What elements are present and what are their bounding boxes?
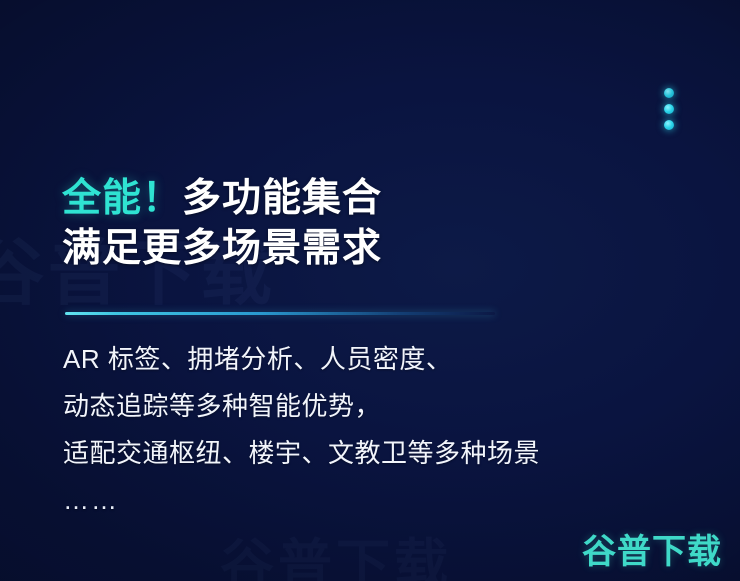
menu-dot-icon-2 [664, 104, 674, 114]
body-paragraph: AR 标签、拥堵分析、人员密度、 动态追踪等多种智能优势， 适配交通枢纽、楼宇、… [63, 336, 713, 524]
headline-accent-text: 全能！ [62, 177, 182, 220]
headline-block: 全能！多功能集合 满足更多场景需求 [62, 174, 702, 274]
body-line-2: 动态追踪等多种智能优势， [63, 383, 713, 430]
headline-line-1-rest: 多功能集合 [182, 177, 382, 220]
body-line-ellipsis: …… [63, 477, 713, 524]
site-watermark: 谷普下载 [582, 524, 722, 573]
menu-dot-icon-1 [664, 88, 674, 98]
ghost-watermark-text-secondary: 谷普下载 [220, 520, 452, 581]
divider-line [65, 312, 495, 315]
promo-slide: 谷普下载 谷普下载 全能！多功能集合 满足更多场景需求 AR 标签、拥堵分析、人… [0, 0, 740, 581]
body-line-3: 适配交通枢纽、楼宇、文教卫等多种场景 [63, 430, 713, 477]
headline-line-2: 满足更多场景需求 [62, 224, 702, 274]
headline-line-1: 全能！多功能集合 [62, 174, 702, 224]
body-line-1: AR 标签、拥堵分析、人员密度、 [63, 336, 713, 383]
menu-dot-icon-3 [664, 120, 674, 130]
three-dot-menu[interactable] [661, 88, 677, 130]
